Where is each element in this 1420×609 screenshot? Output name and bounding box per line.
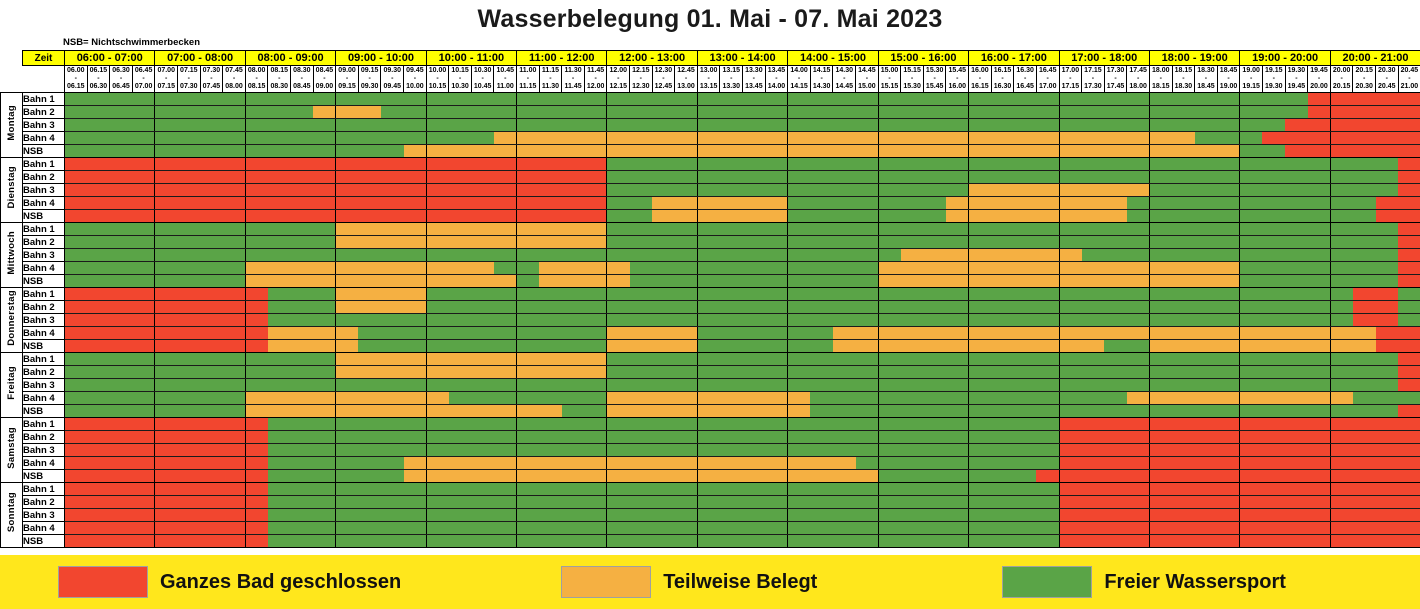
slot-cell	[1149, 457, 1172, 470]
slot-cell	[539, 327, 562, 340]
slot-cell	[1082, 496, 1105, 509]
slot-cell	[788, 119, 811, 132]
slot-cell	[336, 327, 359, 340]
header-slot-58: 20.30-20.45	[1376, 66, 1399, 93]
slot-cell	[1376, 366, 1399, 379]
slot-cell	[562, 457, 585, 470]
slot-cell	[132, 366, 155, 379]
slot-cell	[720, 392, 743, 405]
slot-cell	[1308, 236, 1331, 249]
slot-cell	[1082, 457, 1105, 470]
slot-cell	[1014, 431, 1037, 444]
slot-cell	[1308, 496, 1331, 509]
slot-cell	[494, 366, 517, 379]
slot-cell	[1398, 483, 1420, 496]
slot-cell	[336, 353, 359, 366]
slot-cell	[336, 249, 359, 262]
slot-cell	[1330, 210, 1353, 223]
slot-cell	[1285, 171, 1308, 184]
slot-cell	[268, 158, 291, 171]
lane-label: Bahn 3	[23, 379, 65, 392]
slot-cell	[132, 353, 155, 366]
slot-cell	[562, 431, 585, 444]
slot-cell	[358, 366, 381, 379]
slot-cell	[178, 132, 201, 145]
slot-cell	[313, 379, 336, 392]
slot-cell	[946, 431, 969, 444]
slot-cell	[788, 327, 811, 340]
slot-cell	[65, 197, 88, 210]
slot-cell	[426, 405, 449, 418]
slot-cell	[65, 366, 88, 379]
slot-cell	[901, 301, 924, 314]
slot-cell	[630, 418, 653, 431]
slot-cell	[1172, 522, 1195, 535]
slot-cell	[1262, 236, 1285, 249]
slot-cell	[1036, 288, 1059, 301]
slot-cell	[1217, 418, 1240, 431]
slot-cell	[449, 106, 472, 119]
slot-cell	[449, 197, 472, 210]
slot-cell	[720, 418, 743, 431]
slot-cell	[1353, 275, 1376, 288]
slot-cell	[132, 431, 155, 444]
slot-cell	[1217, 288, 1240, 301]
slot-cell	[245, 405, 268, 418]
slot-cell	[517, 327, 540, 340]
slot-cell	[1195, 236, 1218, 249]
slot-cell	[517, 275, 540, 288]
header-slot-16: 10.00-10.15	[426, 66, 449, 93]
slot-cell	[765, 392, 788, 405]
slot-cell	[788, 93, 811, 106]
slot-cell	[1036, 483, 1059, 496]
slot-cell	[449, 444, 472, 457]
slot-cell	[539, 301, 562, 314]
slot-cell	[1217, 262, 1240, 275]
header-slot-51: 18.45-19.00	[1217, 66, 1240, 93]
header-hour-7: 13:00 - 14:00	[697, 51, 787, 66]
slot-cell	[155, 444, 178, 457]
slot-cell	[426, 340, 449, 353]
slot-cell	[1262, 379, 1285, 392]
slot-cell	[1172, 236, 1195, 249]
slot-cell	[1308, 301, 1331, 314]
header-slot-36: 15.00-15.15	[878, 66, 901, 93]
table-row: MittwochBahn 1	[1, 223, 1420, 236]
slot-cell	[178, 262, 201, 275]
slot-cell	[132, 483, 155, 496]
slot-cell	[449, 158, 472, 171]
slot-cell	[1082, 119, 1105, 132]
slot-cell	[1308, 288, 1331, 301]
slot-cell	[65, 301, 88, 314]
slot-cell	[132, 535, 155, 548]
slot-cell	[178, 509, 201, 522]
slot-cell	[291, 210, 314, 223]
slot-cell	[901, 353, 924, 366]
slot-cell	[358, 509, 381, 522]
slot-cell	[1127, 418, 1150, 431]
slot-cell	[245, 275, 268, 288]
table-row: Bahn 2	[1, 431, 1420, 444]
slot-cell	[810, 93, 833, 106]
slot-cell	[652, 184, 675, 197]
slot-cell	[132, 327, 155, 340]
slot-cell	[923, 470, 946, 483]
slot-cell	[404, 379, 427, 392]
slot-cell	[1149, 119, 1172, 132]
slot-cell	[1240, 249, 1263, 262]
table-row: Bahn 4	[1, 262, 1420, 275]
slot-cell	[87, 470, 110, 483]
slot-cell	[1014, 223, 1037, 236]
slot-cell	[969, 509, 992, 522]
slot-cell	[291, 418, 314, 431]
slot-cell	[652, 249, 675, 262]
slot-cell	[1376, 288, 1399, 301]
slot-cell	[426, 119, 449, 132]
slot-cell	[381, 132, 404, 145]
slot-cell	[65, 119, 88, 132]
slot-cell	[426, 314, 449, 327]
slot-cell	[494, 418, 517, 431]
slot-cell	[245, 444, 268, 457]
slot-cell	[630, 249, 653, 262]
slot-cell	[87, 522, 110, 535]
slot-cell	[1353, 405, 1376, 418]
slot-cell	[1308, 366, 1331, 379]
slot-cell	[381, 262, 404, 275]
slot-cell	[494, 379, 517, 392]
slot-cell	[675, 184, 698, 197]
slot-cell	[991, 353, 1014, 366]
slot-cell	[562, 236, 585, 249]
slot-cell	[1059, 392, 1082, 405]
header-slot-41: 16.15-16.30	[991, 66, 1014, 93]
slot-cell	[1308, 483, 1331, 496]
slot-cell	[358, 171, 381, 184]
slot-cell	[584, 496, 607, 509]
slot-cell	[743, 197, 766, 210]
slot-cell	[1149, 405, 1172, 418]
slot-cell	[1376, 93, 1399, 106]
slot-cell	[810, 184, 833, 197]
slot-cell	[517, 509, 540, 522]
slot-cell	[743, 301, 766, 314]
slot-cell	[652, 379, 675, 392]
slot-cell	[132, 457, 155, 470]
slot-cell	[1149, 158, 1172, 171]
slot-cell	[404, 249, 427, 262]
slot-cell	[1104, 431, 1127, 444]
slot-cell	[856, 444, 879, 457]
slot-cell	[720, 197, 743, 210]
slot-cell	[132, 132, 155, 145]
slot-cell	[1330, 119, 1353, 132]
slot-cell	[1240, 288, 1263, 301]
slot-cell	[539, 262, 562, 275]
slot-cell	[562, 184, 585, 197]
slot-cell	[833, 145, 856, 158]
slot-cell	[584, 483, 607, 496]
slot-cell	[404, 197, 427, 210]
slot-cell	[652, 509, 675, 522]
slot-cell	[313, 392, 336, 405]
slot-cell	[923, 431, 946, 444]
slot-cell	[1104, 210, 1127, 223]
slot-cell	[1036, 236, 1059, 249]
slot-cell	[200, 457, 223, 470]
slot-cell	[946, 496, 969, 509]
slot-cell	[87, 379, 110, 392]
slot-cell	[1308, 184, 1331, 197]
slot-cell	[517, 340, 540, 353]
slot-cell	[65, 327, 88, 340]
slot-cell	[1195, 535, 1218, 548]
slot-cell	[1262, 158, 1285, 171]
slot-cell	[1285, 106, 1308, 119]
slot-cell	[1104, 184, 1127, 197]
slot-cell	[494, 522, 517, 535]
slot-cell	[1330, 444, 1353, 457]
slot-cell	[923, 314, 946, 327]
slot-cell	[1217, 392, 1240, 405]
slot-cell	[1376, 496, 1399, 509]
slot-cell	[381, 496, 404, 509]
slot-cell	[110, 483, 133, 496]
slot-cell	[991, 314, 1014, 327]
slot-cell	[426, 483, 449, 496]
table-row: NSB	[1, 470, 1420, 483]
slot-cell	[856, 314, 879, 327]
slot-cell	[901, 262, 924, 275]
slot-cell	[562, 444, 585, 457]
slot-cell	[1285, 353, 1308, 366]
slot-cell	[132, 223, 155, 236]
slot-cell	[1330, 262, 1353, 275]
slot-cell	[1285, 392, 1308, 405]
slot-cell	[1240, 444, 1263, 457]
slot-cell	[1127, 158, 1150, 171]
slot-cell	[607, 145, 630, 158]
slot-cell	[1014, 405, 1037, 418]
slot-cell	[607, 496, 630, 509]
slot-cell	[313, 353, 336, 366]
slot-cell	[1376, 262, 1399, 275]
slot-cell	[1308, 340, 1331, 353]
slot-cell	[1082, 522, 1105, 535]
slot-cell	[562, 405, 585, 418]
slot-cell	[1127, 470, 1150, 483]
slot-cell	[1059, 288, 1082, 301]
slot-cell	[765, 457, 788, 470]
slot-cell	[675, 106, 698, 119]
slot-cell	[743, 314, 766, 327]
slot-cell	[788, 457, 811, 470]
slot-cell	[449, 223, 472, 236]
slot-cell	[223, 470, 246, 483]
slot-cell	[268, 340, 291, 353]
slot-cell	[923, 535, 946, 548]
slot-cell	[1398, 431, 1420, 444]
slot-cell	[110, 418, 133, 431]
slot-cell	[562, 340, 585, 353]
slot-cell	[1172, 509, 1195, 522]
slot-cell	[200, 275, 223, 288]
slot-cell	[856, 301, 879, 314]
slot-cell	[810, 275, 833, 288]
slot-cell	[132, 405, 155, 418]
slot-cell	[336, 210, 359, 223]
slot-cell	[1330, 522, 1353, 535]
slot-cell	[426, 457, 449, 470]
slot-cell	[946, 418, 969, 431]
slot-cell	[65, 496, 88, 509]
slot-cell	[200, 184, 223, 197]
slot-cell	[607, 535, 630, 548]
slot-cell	[155, 262, 178, 275]
slot-cell	[991, 119, 1014, 132]
slot-cell	[562, 197, 585, 210]
slot-cell	[404, 301, 427, 314]
slot-cell	[426, 288, 449, 301]
slot-cell	[1014, 236, 1037, 249]
slot-cell	[87, 197, 110, 210]
slot-cell	[1308, 392, 1331, 405]
slot-cell	[1353, 340, 1376, 353]
slot-cell	[223, 249, 246, 262]
slot-cell	[1330, 184, 1353, 197]
slot-cell	[969, 171, 992, 184]
slot-cell	[132, 379, 155, 392]
slot-cell	[178, 301, 201, 314]
slot-cell	[358, 353, 381, 366]
slot-cell	[449, 392, 472, 405]
slot-cell	[1036, 223, 1059, 236]
slot-cell	[1353, 314, 1376, 327]
slot-cell	[1262, 535, 1285, 548]
slot-cell	[697, 353, 720, 366]
slot-cell	[720, 301, 743, 314]
slot-cell	[381, 444, 404, 457]
slot-cell	[946, 327, 969, 340]
slot-cell	[110, 379, 133, 392]
slot-cell	[223, 106, 246, 119]
slot-cell	[1082, 470, 1105, 483]
slot-cell	[1172, 496, 1195, 509]
slot-cell	[856, 470, 879, 483]
slot-cell	[1059, 197, 1082, 210]
slot-cell	[1014, 145, 1037, 158]
slot-cell	[1195, 145, 1218, 158]
slot-cell	[110, 535, 133, 548]
table-row: Bahn 3	[1, 249, 1420, 262]
slot-cell	[991, 483, 1014, 496]
slot-cell	[584, 431, 607, 444]
slot-cell	[697, 444, 720, 457]
slot-cell	[1240, 262, 1263, 275]
slot-cell	[743, 353, 766, 366]
slot-cell	[991, 509, 1014, 522]
slot-cell	[471, 470, 494, 483]
slot-cell	[449, 470, 472, 483]
slot-cell	[878, 158, 901, 171]
slot-cell	[517, 444, 540, 457]
slot-cell	[110, 509, 133, 522]
header-slot-55: 19.45-20.00	[1308, 66, 1331, 93]
slot-cell	[969, 119, 992, 132]
slot-cell	[1059, 236, 1082, 249]
slot-cell	[449, 119, 472, 132]
slot-cell	[1127, 301, 1150, 314]
slot-cell	[178, 197, 201, 210]
slot-cell	[1172, 405, 1195, 418]
slot-cell	[765, 249, 788, 262]
slot-cell	[697, 93, 720, 106]
slot-cell	[449, 171, 472, 184]
slot-cell	[1240, 145, 1263, 158]
slot-cell	[1240, 366, 1263, 379]
slot-cell	[833, 158, 856, 171]
slot-cell	[110, 210, 133, 223]
header-slot-40: 16.00-16.15	[969, 66, 992, 93]
slot-cell	[675, 210, 698, 223]
slot-cell	[404, 496, 427, 509]
header-slot-12: 09.00-09.15	[336, 66, 359, 93]
slot-cell	[1082, 366, 1105, 379]
slot-cell	[381, 483, 404, 496]
slot-cell	[946, 275, 969, 288]
slot-cell	[1217, 93, 1240, 106]
slot-cell	[675, 327, 698, 340]
slot-cell	[969, 223, 992, 236]
slot-cell	[833, 509, 856, 522]
slot-cell	[1330, 288, 1353, 301]
slot-cell	[404, 184, 427, 197]
slot-cell	[1353, 470, 1376, 483]
slot-cell	[991, 236, 1014, 249]
slot-cell	[268, 223, 291, 236]
slot-cell	[358, 145, 381, 158]
slot-cell	[200, 119, 223, 132]
slot-cell	[517, 288, 540, 301]
header-slot-56: 20.00-20.15	[1330, 66, 1353, 93]
slot-cell	[358, 535, 381, 548]
slot-cell	[313, 119, 336, 132]
slot-cell	[652, 431, 675, 444]
slot-cell	[1195, 93, 1218, 106]
slot-cell	[833, 314, 856, 327]
slot-cell	[155, 223, 178, 236]
slot-cell	[833, 340, 856, 353]
slot-cell	[675, 444, 698, 457]
slot-cell	[539, 340, 562, 353]
slot-cell	[404, 470, 427, 483]
slot-cell	[1059, 470, 1082, 483]
slot-cell	[426, 301, 449, 314]
slot-cell	[517, 418, 540, 431]
slot-cell	[313, 405, 336, 418]
slot-cell	[200, 236, 223, 249]
slot-cell	[449, 327, 472, 340]
slot-cell	[358, 483, 381, 496]
slot-cell	[1127, 236, 1150, 249]
slot-cell	[1217, 197, 1240, 210]
slot-cell	[1240, 171, 1263, 184]
slot-cell	[1262, 483, 1285, 496]
slot-cell	[539, 405, 562, 418]
